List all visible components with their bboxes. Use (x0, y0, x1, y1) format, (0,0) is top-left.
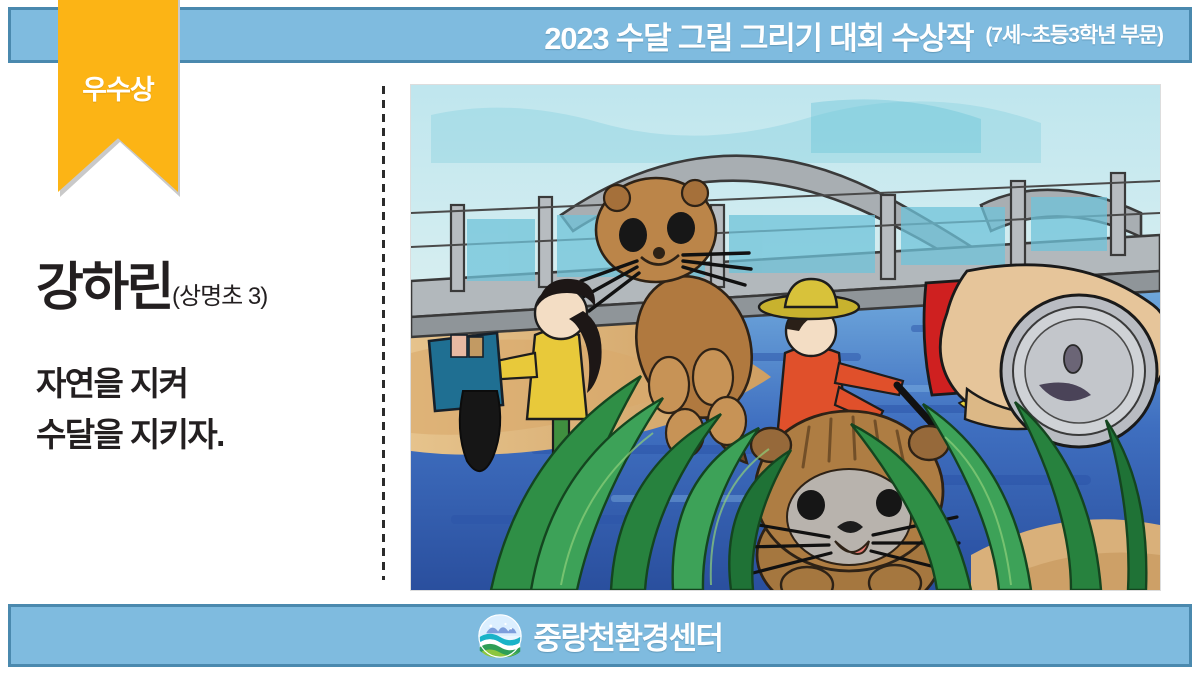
artist-school: (상명초 3) (172, 276, 267, 314)
page-title: 2023 수달 그림 그리기 대회 수상작 (544, 13, 973, 58)
page-subtitle: (7세~초등3학년 부문) (985, 19, 1163, 51)
award-ribbon: 우수상 (58, 0, 178, 192)
artwork-title-line-2: 수달을 지키자. (36, 409, 224, 460)
river-emblem-icon (477, 613, 523, 659)
artwork-title-line-1: 자연을 지켜 (36, 358, 224, 409)
artwork-title: 자연을 지켜 수달을 지키자. (36, 358, 224, 460)
vertical-dashed-divider (382, 86, 385, 580)
artwork-image (411, 85, 1160, 590)
artist-name: 강하린 (36, 262, 172, 314)
award-label: 우수상 (82, 68, 154, 107)
header-title-group: 2023 수달 그림 그리기 대회 수상작 (7세~초등3학년 부문) (11, 10, 1195, 60)
artwork-illustration (411, 85, 1160, 590)
footer-bar: 중랑천환경센터 (8, 604, 1192, 667)
footer-brand-name: 중랑천환경센터 (533, 613, 722, 658)
artist-info: 강하린 (상명초 3) (36, 262, 267, 314)
slide-root: 2023 수달 그림 그리기 대회 수상작 (7세~초등3학년 부문) 우수상 … (0, 0, 1200, 675)
header-bar: 2023 수달 그림 그리기 대회 수상작 (7세~초등3학년 부문) (8, 7, 1192, 63)
